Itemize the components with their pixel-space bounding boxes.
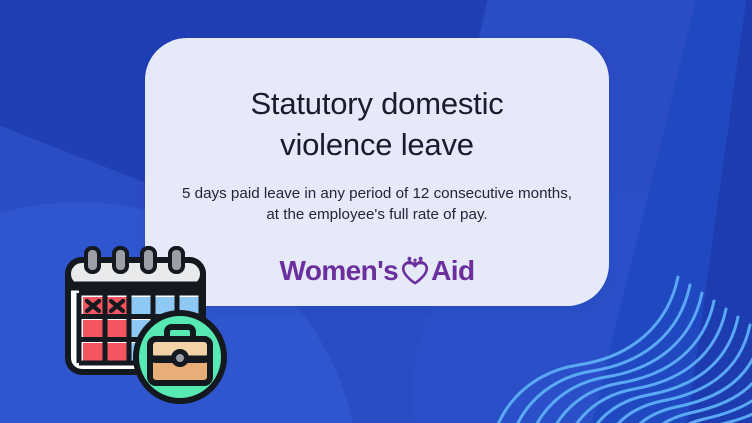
- calendar-with-briefcase-illustration: [60, 244, 240, 412]
- logo-word-womens: Women's: [280, 257, 399, 285]
- page-title: Statutory domestic violence leave: [207, 38, 547, 166]
- heart-with-people-icon: [400, 256, 430, 286]
- infographic-canvas: Statutory domestic violence leave 5 days…: [0, 0, 752, 423]
- card-subtitle: 5 days paid leave in any period of 12 co…: [177, 166, 577, 226]
- briefcase-badge: [136, 313, 224, 401]
- womens-aid-logo[interactable]: Women's Aid: [280, 256, 475, 286]
- logo-word-aid: Aid: [431, 257, 474, 285]
